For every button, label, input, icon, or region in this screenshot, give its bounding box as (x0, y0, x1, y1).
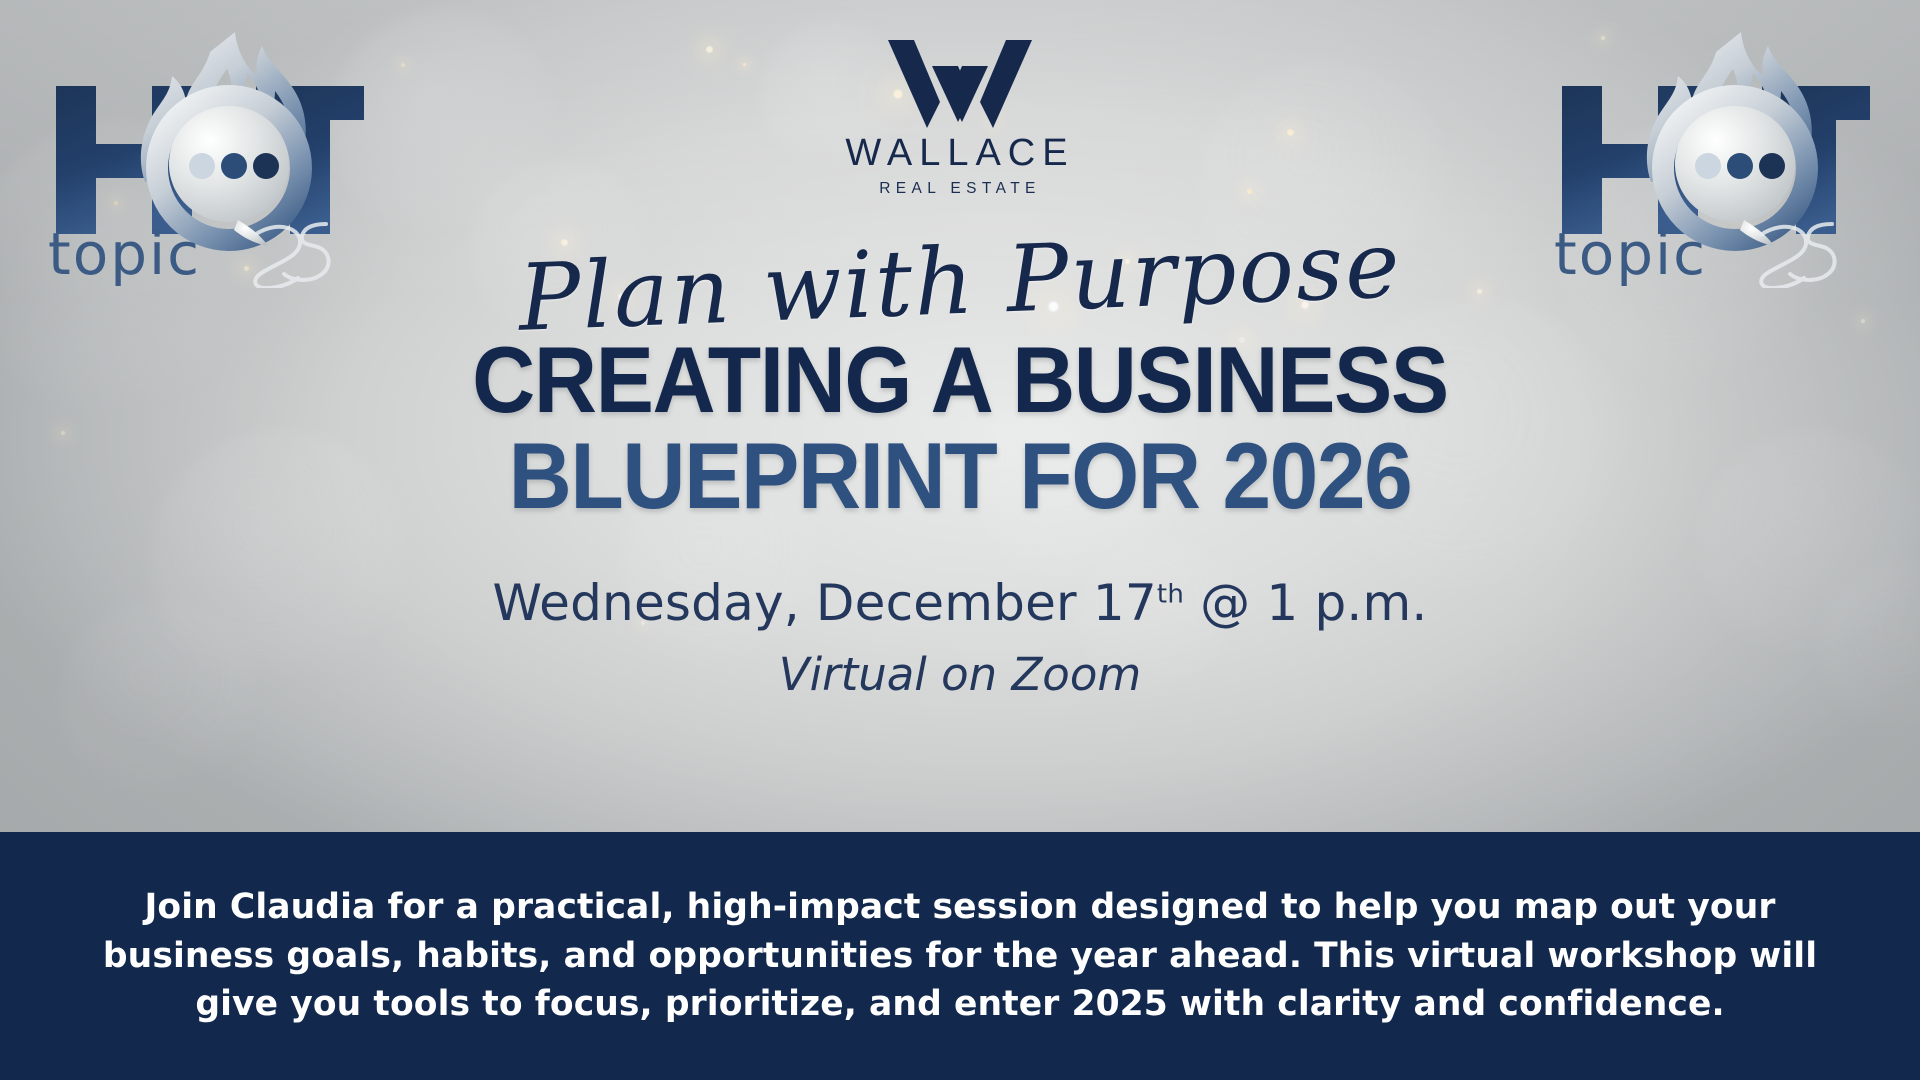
wallace-tagline: REAL ESTATE (810, 180, 1110, 198)
event-date-ordinal: th (1157, 580, 1184, 610)
wallace-monogram-icon (884, 36, 1036, 128)
bubble-dot-1 (189, 153, 215, 179)
event-date-line: Wednesday, December 17th @ 1 p.m. (0, 574, 1920, 632)
bubble-dot-2 (221, 153, 247, 179)
event-date-text: Wednesday, December 17 (492, 574, 1156, 632)
hero-block: Plan with Purpose CREATING A BUSINESS BL… (0, 236, 1920, 701)
hero-headline-line1: CREATING A BUSINESS (67, 334, 1853, 426)
bubble-dot-2 (1727, 153, 1753, 179)
footer-description: Join Claudia for a practical, high-impac… (65, 883, 1855, 1030)
footer-bar: Join Claudia for a practical, high-impac… (0, 832, 1920, 1080)
bubble-dot-3 (1759, 153, 1785, 179)
event-venue-line: Virtual on Zoom (0, 648, 1920, 701)
wallace-wordmark: WALLACE (810, 132, 1110, 175)
hero-headline-line2: BLUEPRINT FOR 2026 (67, 430, 1853, 522)
event-time-text: @ 1 p.m. (1184, 574, 1428, 632)
wallace-logo: WALLACE REAL ESTATE (810, 36, 1110, 198)
bubble-dot-1 (1695, 153, 1721, 179)
flyer-canvas: topic (0, 0, 1920, 1080)
bubble-dot-3 (253, 153, 279, 179)
